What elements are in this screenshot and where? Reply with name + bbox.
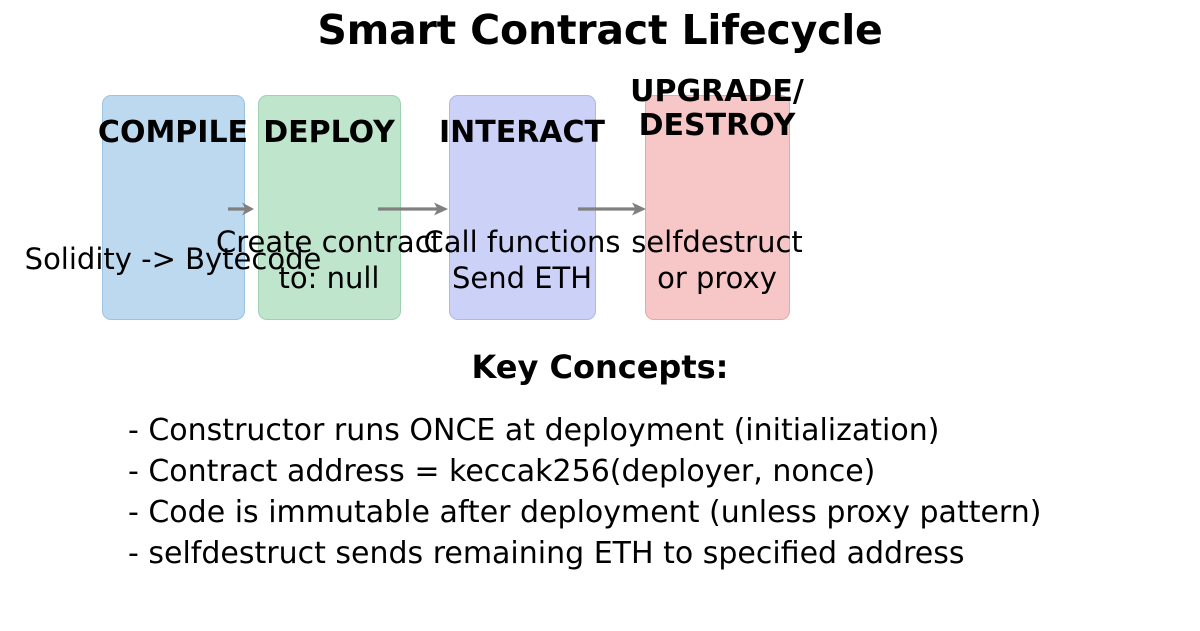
page-title: Smart Contract Lifecycle xyxy=(0,6,1200,54)
stage-desc-upgrade-destroy: selfdestruct or proxy xyxy=(417,224,1017,296)
stage-label-upgrade-destroy: UPGRADE/ DESTROY xyxy=(617,75,817,143)
arrow-right-icon-deploy-to-interact xyxy=(378,200,450,218)
key-concept-item: - selfdestruct sends remaining ETH to sp… xyxy=(128,533,1188,574)
key-concepts-list: - Constructor runs ONCE at deployment (i… xyxy=(128,410,1188,574)
arrow-right-icon-interact-to-upgrade xyxy=(578,200,648,218)
arrow-right-icon-compile-to-deploy xyxy=(228,200,258,218)
key-concepts-heading: Key Concepts: xyxy=(0,348,1200,386)
key-concept-item: - Code is immutable after deployment (un… xyxy=(128,492,1188,533)
diagram-canvas: Smart Contract Lifecycle COMPILE DEPLOY … xyxy=(0,0,1200,631)
stage-desc-upgrade-destroy-line2: or proxy xyxy=(417,260,1017,296)
key-concept-item: - Contract address = keccak256(deployer,… xyxy=(128,451,1188,492)
key-concept-item: - Constructor runs ONCE at deployment (i… xyxy=(128,410,1188,451)
stage-desc-upgrade-destroy-line1: selfdestruct xyxy=(417,224,1017,260)
